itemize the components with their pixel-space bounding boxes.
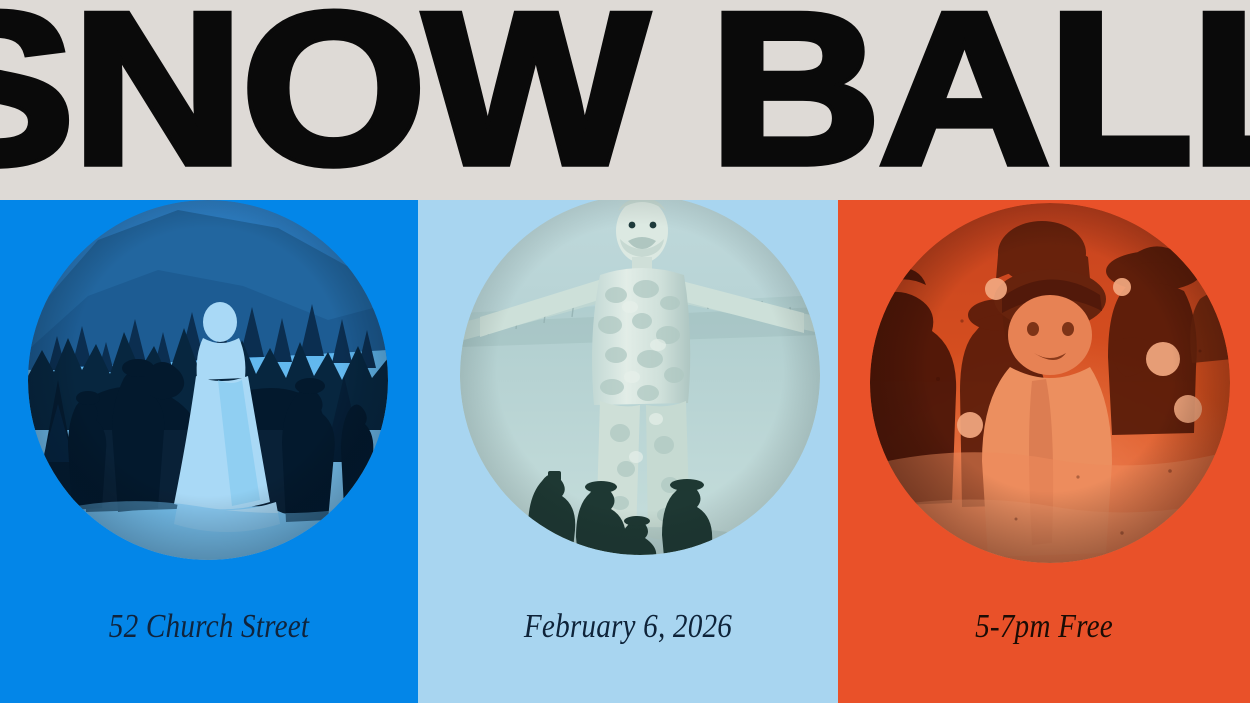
- caption-time: 5-7pm Free: [867, 608, 1221, 646]
- panel-date: February 6, 2026: [418, 200, 838, 703]
- giant-snowman-sculpture-photo: [460, 200, 820, 555]
- snowball-fight-crowd-photo: [870, 203, 1230, 563]
- panel-time: 5-7pm Free: [838, 200, 1250, 703]
- caption-venue: 52 Church Street: [29, 608, 388, 646]
- poster-header: SNOW BALL: [0, 0, 1250, 200]
- panel-venue: 52 Church Street: [0, 200, 418, 703]
- panel-strip: 52 Church Street: [0, 200, 1250, 703]
- snow-sculpture-woman-in-gown-photo: [28, 200, 388, 560]
- caption-date: February 6, 2026: [447, 608, 808, 646]
- poster-canvas: SNOW BALL: [0, 0, 1250, 703]
- page-title: SNOW BALL: [0, 4, 1250, 173]
